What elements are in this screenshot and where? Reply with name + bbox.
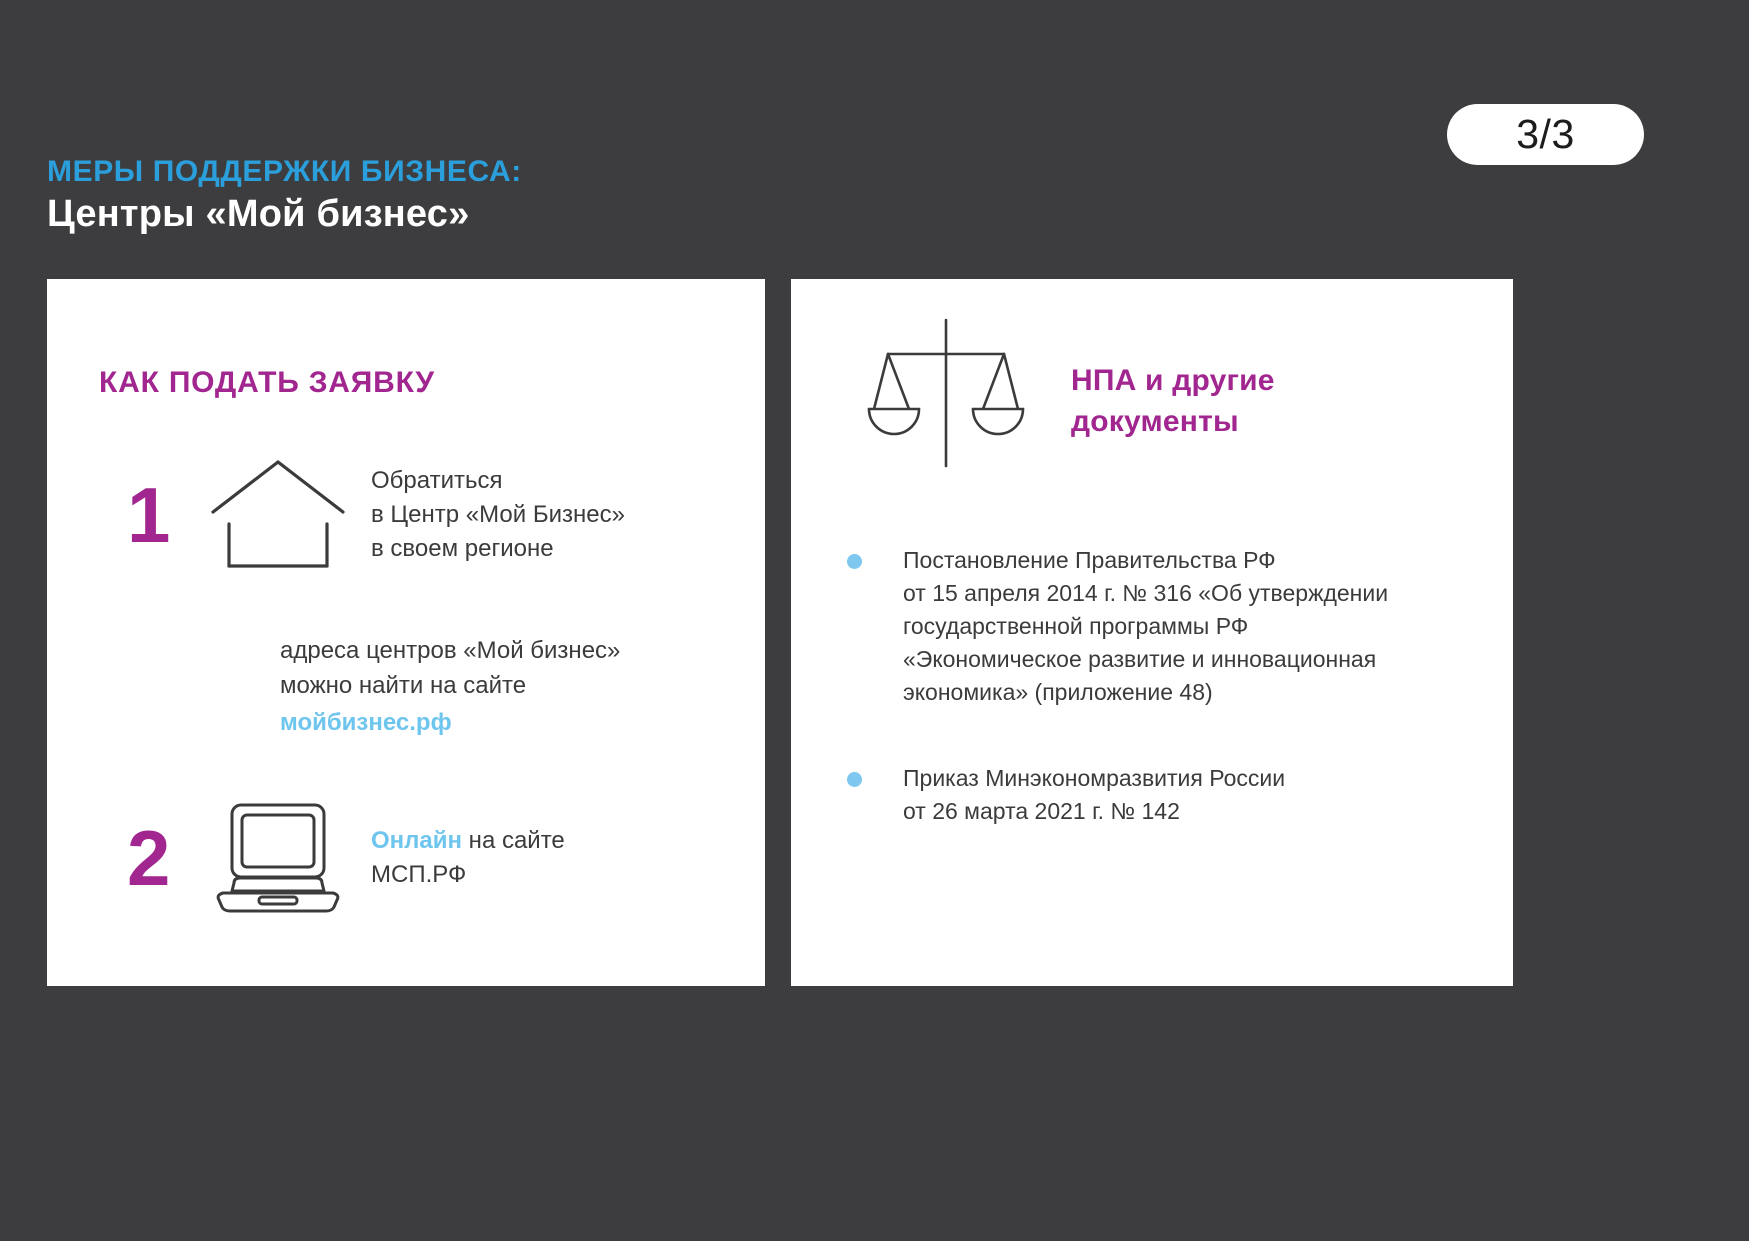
legal-heading-line-1: НПА и другие [1071,361,1275,402]
legal-documents-list: Постановление Правительства РФ от 15 апр… [839,544,1499,828]
slide-root: 3/3 МЕРЫ ПОДДЕРЖКИ БИЗНЕСА: Центры «Мой … [0,0,1749,1241]
slide-kicker: МЕРЫ ПОДДЕРЖКИ БИЗНЕСА: [47,155,522,188]
step-2-text: Онлайн на сайте МСП.РФ [371,824,565,892]
note-line-2: можно найти на сайте [280,669,620,704]
step-1-line-2: в Центр «Мой Бизнес» [371,498,625,532]
step-2-accent: Онлайн [371,827,462,854]
bullet-2-line-1: Приказ Минэкономразвития России [903,762,1499,795]
house-icon [203,454,353,576]
how-to-apply-card: КАК ПОДАТЬ ЗАЯВКУ 1 Обратиться в Центр «… [47,279,765,986]
page-badge: 3/3 [1447,104,1644,165]
list-item: Постановление Правительства РФ от 15 апр… [839,544,1499,708]
step-1-text: Обратиться в Центр «Мой Бизнес» в своем … [371,464,625,566]
step-1-line-1: Обратиться [371,464,625,498]
bullet-1-line-2: от 15 апреля 2014 г. № 316 «Об утвержден… [903,577,1499,610]
list-item: Приказ Минэкономразвития России от 26 ма… [839,762,1499,828]
how-to-apply-heading: КАК ПОДАТЬ ЗАЯВКУ [99,366,435,400]
bullet-dot-icon [847,772,862,787]
bullet-1-line-5: экономика» (приложение 48) [903,676,1499,709]
bullet-1-line-3: государственной программы РФ [903,610,1499,643]
step-2-line-1: Онлайн на сайте [371,824,565,858]
note-line-1: адреса центров «Мой бизнес» [280,634,620,669]
legal-documents-card: НПА и другие документы Постановление Пра… [791,279,1513,986]
legal-documents-heading: НПА и другие документы [1071,361,1275,443]
step-1: 1 Обратиться в Центр «Мой Бизнес» в свое… [127,454,625,576]
step-2-line-2: МСП.РФ [371,858,565,892]
step-2-line-1-rest: на сайте [462,827,565,854]
legal-heading-line-2: документы [1071,402,1275,443]
step-2-number: 2 [127,819,203,897]
bullet-1-line-4: «Экономическое развитие и инновационная [903,643,1499,676]
page-title: Центры «Мой бизнес» [47,193,469,237]
step-1-line-3: в своем регионе [371,532,625,566]
mybusiness-website-link[interactable]: мойбизнес.рф [280,706,620,741]
scales-icon [866,314,1026,479]
bullet-1-line-1: Постановление Правительства РФ [903,544,1499,577]
bullet-dot-icon [847,554,862,569]
step-2: 2 Онлайн на сайте МСП.РФ [127,799,565,917]
bullet-2-line-2: от 26 марта 2021 г. № 142 [903,795,1499,828]
laptop-icon [203,799,353,917]
centers-address-note: адреса центров «Мой бизнес» можно найти … [280,634,620,740]
page-badge-label: 3/3 [1516,114,1575,155]
step-1-number: 1 [127,476,203,554]
